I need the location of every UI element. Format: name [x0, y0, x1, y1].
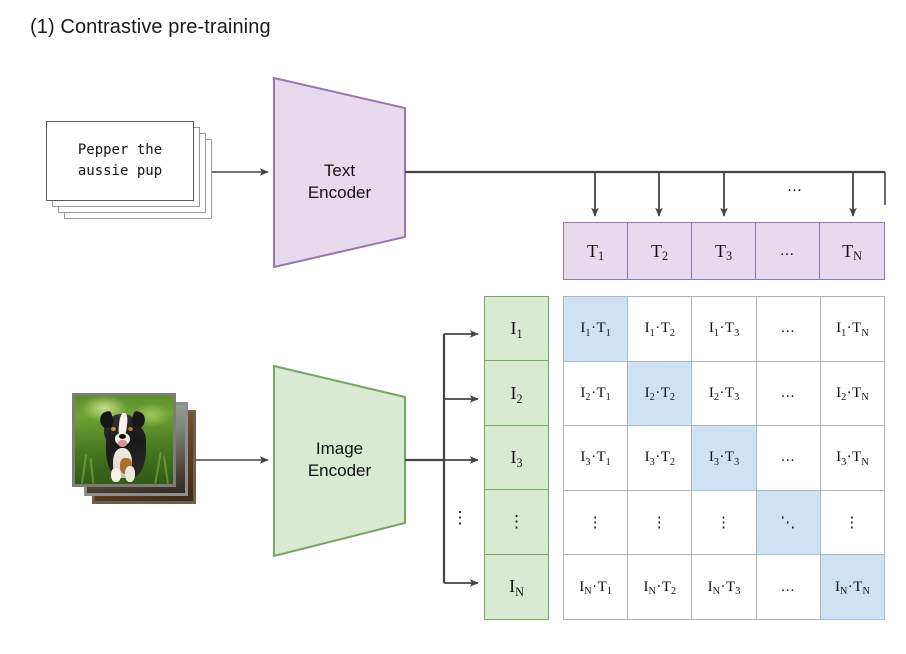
- text-embedding-cell-ellipsis: ...: [756, 223, 820, 279]
- t3-label: T3: [715, 241, 732, 262]
- caption-line-1: Pepper the: [78, 142, 162, 158]
- t-ellipsis-label: ...: [780, 243, 794, 260]
- matrix-cell-r4-c1: ⋮: [564, 491, 628, 556]
- i-ellipsis-label: ⋮: [508, 512, 525, 532]
- matrix-cell-label: I1·T1: [580, 320, 610, 337]
- matrix-cell-r2-c1: I2·T1: [564, 362, 628, 427]
- matrix-cell-label: IN·TN: [835, 579, 870, 596]
- text-branch-ellipsis: ...: [775, 178, 815, 196]
- text-embedding-cell-n: TN: [820, 223, 884, 279]
- matrix-cell-r5-c4: ...: [757, 555, 821, 620]
- tn-label: TN: [842, 241, 862, 262]
- in-label: IN: [509, 576, 524, 597]
- i1-label: I1: [510, 318, 522, 339]
- matrix-cell-label: I3·TN: [836, 449, 869, 466]
- matrix-cell-r1-c4: ...: [757, 297, 821, 362]
- matrix-cell-r5-c1: IN·T1: [564, 555, 628, 620]
- text-embedding-row: T1 T2 T3 ... TN: [563, 222, 885, 280]
- i3-label: I3: [510, 447, 522, 468]
- t1-label: T1: [587, 241, 604, 262]
- caption-card-front: Pepper the aussie pup: [46, 121, 194, 201]
- matrix-cell-label: I2·T2: [645, 385, 675, 402]
- matrix-cell-r2-c4: ...: [757, 362, 821, 427]
- figure-canvas: (1) Contrastive pre-training: [0, 0, 906, 654]
- image-embedding-cell-n: IN: [485, 555, 548, 619]
- matrix-cell-label: I1·T2: [645, 320, 675, 337]
- matrix-cell-label: I1·TN: [836, 320, 869, 337]
- image-embedding-cell-3: I3: [485, 426, 548, 490]
- matrix-cell-label: IN·T1: [579, 579, 612, 596]
- caption-line-2: aussie pup: [78, 163, 162, 179]
- matrix-cell-r1-c2: I1·T2: [628, 297, 692, 362]
- i2-label: I2: [510, 383, 522, 404]
- matrix-cell-r3-c4: ...: [757, 426, 821, 491]
- matrix-cell-r1-c3: I1·T3: [692, 297, 756, 362]
- image-embedding-column: I1 I2 I3 ⋮ IN: [484, 296, 549, 620]
- matrix-cell-r5-c5: IN·TN: [821, 555, 885, 620]
- matrix-cell-r2-c2: I2·T2: [628, 362, 692, 427]
- image-embedding-cell-1: I1: [485, 297, 548, 361]
- matrix-cell-r3-c1: I3·T1: [564, 426, 628, 491]
- image-embedding-cell-ellipsis: ⋮: [485, 490, 548, 554]
- matrix-cell-label: I3·T2: [645, 449, 675, 466]
- image-encoder-label: Image Encoder: [274, 438, 405, 482]
- figure-title: (1) Contrastive pre-training: [30, 14, 271, 40]
- similarity-matrix: I1·T1I1·T2I1·T3...I1·TNI2·T1I2·T2I2·T3..…: [563, 296, 885, 620]
- text-embedding-cell-2: T2: [628, 223, 692, 279]
- dog-photo: [75, 396, 173, 484]
- matrix-cell-r3-c5: I3·TN: [821, 426, 885, 491]
- image-embedding-cell-2: I2: [485, 361, 548, 425]
- matrix-cell-r2-c3: I2·T3: [692, 362, 756, 427]
- text-embedding-cell-1: T1: [564, 223, 628, 279]
- matrix-cell-label: IN·T2: [643, 579, 676, 596]
- matrix-cell-r3-c3: I3·T3: [692, 426, 756, 491]
- matrix-cell-r4-c5: ⋮: [821, 491, 885, 556]
- matrix-cell-label: I2·T3: [709, 385, 739, 402]
- photo-front-dog: [72, 393, 176, 487]
- matrix-cell-r3-c2: I3·T2: [628, 426, 692, 491]
- matrix-cell-label: I3·T1: [580, 449, 610, 466]
- matrix-cell-r4-c2: ⋮: [628, 491, 692, 556]
- matrix-cell-r2-c5: I2·TN: [821, 362, 885, 427]
- t2-label: T2: [651, 241, 668, 262]
- caption-text: Pepper the aussie pup: [78, 140, 162, 182]
- matrix-cell-r5-c2: IN·T2: [628, 555, 692, 620]
- matrix-cell-r1-c1: I1·T1: [564, 297, 628, 362]
- matrix-cell-r4-c3: ⋮: [692, 491, 756, 556]
- matrix-cell-r4-c4: ⋱: [757, 491, 821, 556]
- matrix-cell-label: I2·TN: [836, 385, 869, 402]
- image-branch-ellipsis: ⋮: [450, 508, 470, 528]
- text-embedding-cell-3: T3: [692, 223, 756, 279]
- matrix-cell-label: IN·T3: [708, 579, 741, 596]
- matrix-cell-r5-c3: IN·T3: [692, 555, 756, 620]
- matrix-cell-r1-c5: I1·TN: [821, 297, 885, 362]
- matrix-cell-label: I2·T1: [580, 385, 610, 402]
- text-encoder-label: Text Encoder: [274, 160, 405, 204]
- matrix-cell-label: I1·T3: [709, 320, 739, 337]
- matrix-cell-label: I3·T3: [709, 449, 739, 466]
